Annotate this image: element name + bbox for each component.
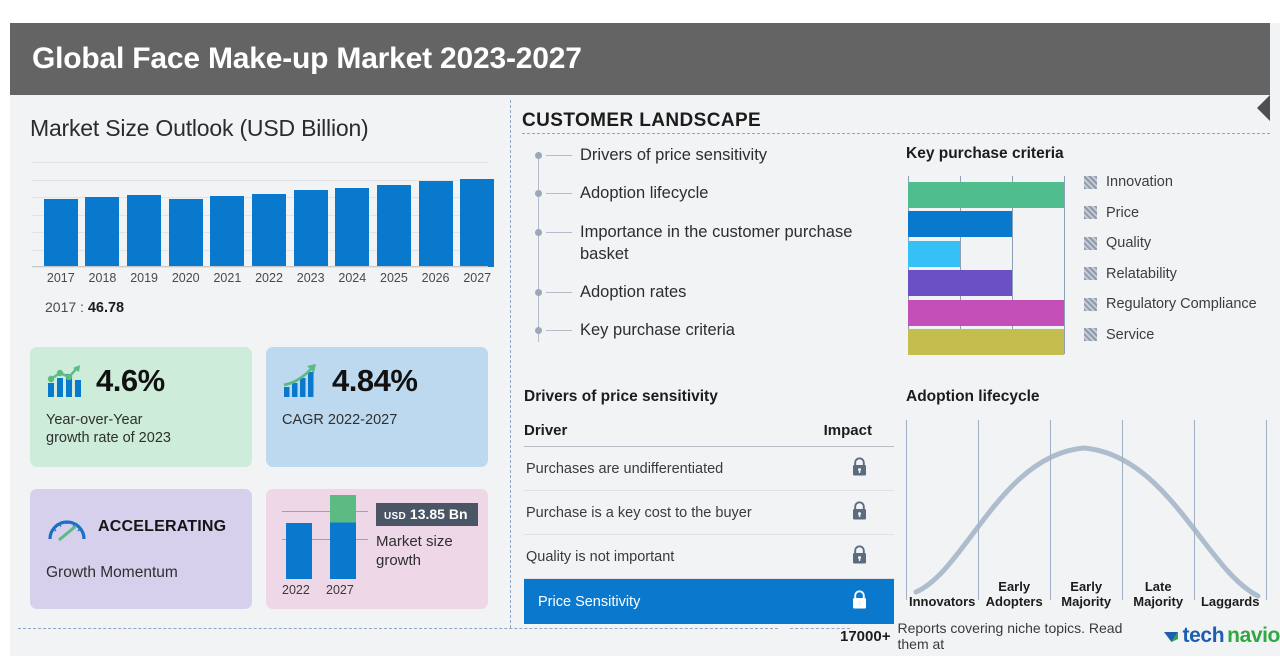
footer: 17000+ Reports covering niche topics. Re… <box>840 620 1280 652</box>
stat-card-momentum: ACCELERATING Growth Momentum <box>30 489 252 609</box>
hatched-square-icon <box>1084 267 1097 280</box>
impact-lock-cell[interactable] <box>824 491 894 535</box>
key-purchase-criteria-section: Key purchase criteria InnovationPriceQua… <box>906 145 1274 354</box>
market-growth-mini-chart: 2022 2027 <box>282 505 368 597</box>
customer-landscape-underline <box>522 133 1270 134</box>
chart-bars <box>40 162 498 267</box>
kpc-legend-label: Service <box>1106 327 1154 343</box>
bar-2018 <box>85 197 119 267</box>
impact-lock-cell[interactable] <box>824 535 894 579</box>
kpc-bar-regulatory-compliance <box>908 300 1064 326</box>
kpc-title: Key purchase criteria <box>906 145 1274 163</box>
lock-icon <box>851 501 868 520</box>
vertical-divider <box>510 100 511 628</box>
lock-icon <box>851 545 868 564</box>
bullet-dot-icon <box>535 152 542 159</box>
bar-2017 <box>44 199 78 267</box>
bar-2022 <box>252 194 286 267</box>
lock-icon <box>851 457 868 476</box>
alc-chart: InnovatorsEarly AdoptersEarly MajorityLa… <box>906 420 1268 610</box>
hatched-square-icon <box>1084 298 1097 311</box>
x-tick-2021: 2021 <box>207 271 249 285</box>
alc-tick-early-adopters: Early Adopters <box>978 580 1050 610</box>
column-driver: Driver <box>524 422 824 447</box>
stat-cards: 4.6% Year-over-Year growth rate of 2023 … <box>30 347 502 609</box>
table-row[interactable]: Purchases are undifferentiated <box>524 447 894 491</box>
alc-tick-laggards: Laggards <box>1194 595 1266 610</box>
bottom-margin <box>0 656 1280 670</box>
alc-tick-innovators: Innovators <box>906 595 978 610</box>
bar-column <box>165 162 207 267</box>
x-tick-2024: 2024 <box>331 271 373 285</box>
x-tick-2019: 2019 <box>123 271 165 285</box>
alc-title: Adoption lifecycle <box>906 388 1274 406</box>
landscape-item-label: Importance in the customer purchase bask… <box>580 221 898 266</box>
kpc-chart <box>906 176 1066 354</box>
adoption-lifecycle-section: Adoption lifecycle InnovatorsEarly Adopt… <box>906 388 1274 610</box>
alc-curve-icon <box>906 420 1268 602</box>
yoy-caption: Year-over-Year growth rate of 2023 <box>46 411 238 447</box>
alc-tick-late-majority: Late Majority <box>1122 580 1194 610</box>
stat-card-yoy: 4.6% Year-over-Year growth rate of 2023 <box>30 347 252 467</box>
x-tick-2023: 2023 <box>290 271 332 285</box>
kpc-legend-item: Innovation <box>1084 167 1257 198</box>
alc-gridline <box>1194 420 1195 600</box>
chart-x-tick-labels: 2017201820192020202120222023202420252026… <box>40 271 498 285</box>
bar-column <box>248 162 290 267</box>
market-size-panel: Market Size Outlook (USD Billion) 201720… <box>10 100 510 625</box>
bar-2027 <box>460 179 494 267</box>
x-tick-2020: 2020 <box>165 271 207 285</box>
gauge-icon <box>46 511 88 543</box>
alc-gridline <box>978 420 979 600</box>
kpc-legend-item: Relatability <box>1084 259 1257 290</box>
alc-tick-early-majority: Early Majority <box>1050 580 1122 610</box>
badge-unit: USD <box>384 511 406 522</box>
landscape-item-label: Adoption lifecycle <box>580 182 708 204</box>
x-tick-2022: 2022 <box>248 271 290 285</box>
yoy-value: 4.6% <box>96 363 165 399</box>
market-growth-badge: USD 13.85 Bn <box>376 503 478 526</box>
market-size-bar-chart <box>32 162 498 267</box>
kpc-legend-label: Relatability <box>1106 266 1177 282</box>
hatched-square-icon <box>1084 328 1097 341</box>
landscape-item-4[interactable]: Key purchase criteria <box>538 319 898 341</box>
corner-fold-shadow-icon <box>1244 95 1270 121</box>
top-margin <box>0 0 1280 23</box>
footer-divider <box>18 628 778 629</box>
kpc-legend-item: Regulatory Compliance <box>1084 289 1257 320</box>
chart-axis-line <box>32 266 488 267</box>
logo-text-navio: navio <box>1227 624 1280 648</box>
driver-name: Price Sensitivity <box>524 579 824 625</box>
bullet-connector-icon <box>546 193 572 194</box>
customer-landscape-title: CUSTOMER LANDSCAPE <box>522 110 761 132</box>
bullet-connector-icon <box>546 155 572 156</box>
bar-column <box>331 162 373 267</box>
mini-bar-2022 <box>286 523 312 579</box>
alc-gridline <box>1122 420 1123 600</box>
bar-chart-up-icon <box>46 363 86 399</box>
mini-label-2022: 2022 <box>282 583 310 597</box>
kpc-bar-price <box>908 211 1012 237</box>
table-row[interactable]: Price Sensitivity <box>524 579 894 625</box>
kpc-legend-item: Quality <box>1084 228 1257 259</box>
bar-2021 <box>210 196 244 267</box>
cagr-caption: CAGR 2022-2027 <box>282 411 474 429</box>
market-growth-caption: Market size growth <box>376 533 453 571</box>
kpc-legend-item: Service <box>1084 320 1257 351</box>
page-header: Global Face Make-up Market 2023-2027 <box>10 23 1270 95</box>
alc-gridline <box>1050 420 1051 600</box>
logo-text-tech: tech <box>1183 624 1225 648</box>
bullet-dot-icon <box>535 289 542 296</box>
landscape-item-label: Adoption rates <box>580 281 686 303</box>
impact-lock-cell[interactable] <box>824 447 894 491</box>
landscape-item-2[interactable]: Importance in the customer purchase bask… <box>538 221 898 266</box>
bar-column <box>40 162 82 267</box>
market-size-title: Market Size Outlook (USD Billion) <box>10 100 510 142</box>
technavio-mark-icon <box>1163 628 1180 645</box>
kpc-bar-innovation <box>908 182 1064 208</box>
landscape-item-label: Key purchase criteria <box>580 319 735 341</box>
bar-2025 <box>377 185 411 267</box>
alc-gridline <box>1266 420 1267 600</box>
chart-gridline <box>32 267 488 268</box>
impact-lock-cell[interactable] <box>824 579 894 625</box>
kpc-legend-label: Regulatory Compliance <box>1106 296 1257 312</box>
drivers-table-header-row: Driver Impact <box>524 422 894 447</box>
bar-column <box>123 162 165 267</box>
drivers-table-body: Purchases are undifferentiatedPurchase i… <box>524 447 894 625</box>
trend-up-icon <box>282 363 322 399</box>
kpc-bar-quality <box>908 241 960 267</box>
bullet-connector-icon <box>546 330 572 331</box>
alc-gridline <box>906 420 907 600</box>
drivers-table: Driver Impact Purchases are undifferenti… <box>524 422 894 624</box>
bullet-dot-icon <box>535 190 542 197</box>
footer-text: Reports covering niche topics. Read them… <box>897 620 1151 652</box>
cagr-value: 4.84% <box>332 363 417 399</box>
bar-2020 <box>169 199 203 267</box>
x-tick-2018: 2018 <box>82 271 124 285</box>
left-margin <box>0 0 10 670</box>
kpc-bar-relatability <box>908 270 1012 296</box>
x-tick-2025: 2025 <box>373 271 415 285</box>
bullet-connector-icon <box>546 232 572 233</box>
bar-2023 <box>294 190 328 267</box>
first-year-label: 2017 : <box>45 299 84 315</box>
hatched-square-icon <box>1084 206 1097 219</box>
kpc-legend-label: Price <box>1106 205 1139 221</box>
kpc-legend: InnovationPriceQualityRelatabilityRegula… <box>1084 167 1257 350</box>
mini-label-2027: 2027 <box>326 583 354 597</box>
kpc-legend-label: Quality <box>1106 235 1151 251</box>
bar-column <box>82 162 124 267</box>
driver-name: Purchase is a key cost to the buyer <box>524 491 824 535</box>
stat-card-cagr: 4.84% CAGR 2022-2027 <box>266 347 488 467</box>
bullet-dot-icon <box>535 327 542 334</box>
table-row[interactable]: Quality is not important <box>524 535 894 579</box>
drivers-section: Drivers of price sensitivity Driver Impa… <box>524 388 894 624</box>
kpc-gridline <box>1064 176 1065 354</box>
x-tick-2017: 2017 <box>40 271 82 285</box>
hatched-square-icon <box>1084 176 1097 189</box>
bar-column <box>415 162 457 267</box>
x-tick-2027: 2027 <box>456 271 498 285</box>
bar-2019 <box>127 195 161 267</box>
first-year-number: 46.78 <box>88 300 124 316</box>
x-tick-2026: 2026 <box>415 271 457 285</box>
bar-column <box>373 162 415 267</box>
landscape-item-0[interactable]: Drivers of price sensitivity <box>538 144 898 166</box>
lock-icon <box>851 590 868 609</box>
kpc-legend-item: Price <box>1084 198 1257 229</box>
first-year-value: 2017 : 46.78 <box>45 299 510 316</box>
landscape-item-label: Drivers of price sensitivity <box>580 144 767 166</box>
landscape-item-1[interactable]: Adoption lifecycle <box>538 182 898 204</box>
badge-value: 13.85 Bn <box>410 506 468 522</box>
bar-column <box>456 162 498 267</box>
table-row[interactable]: Purchase is a key cost to the buyer <box>524 491 894 535</box>
bullet-dot-icon <box>535 229 542 236</box>
driver-name: Quality is not important <box>524 535 824 579</box>
technavio-logo[interactable]: technavio <box>1163 624 1280 648</box>
momentum-value: ACCELERATING <box>98 518 226 536</box>
momentum-caption: Growth Momentum <box>46 563 238 582</box>
mini-bar-2027 <box>330 495 356 579</box>
kpc-legend-label: Innovation <box>1106 174 1173 190</box>
drivers-title: Drivers of price sensitivity <box>524 388 894 406</box>
kpc-bar-service <box>908 329 1064 355</box>
driver-name: Purchases are undifferentiated <box>524 447 824 491</box>
column-impact: Impact <box>824 422 894 447</box>
page-title: Global Face Make-up Market 2023-2027 <box>10 42 582 76</box>
footer-count: 17000+ <box>840 628 890 645</box>
bar-column <box>207 162 249 267</box>
landscape-item-3[interactable]: Adoption rates <box>538 281 898 303</box>
poster-root: Global Face Make-up Market 2023-2027 Mar… <box>0 0 1280 670</box>
bar-2024 <box>335 188 369 267</box>
bar-2026 <box>419 181 453 267</box>
customer-landscape-list: Drivers of price sensitivityAdoption lif… <box>538 144 898 358</box>
bar-column <box>290 162 332 267</box>
hatched-square-icon <box>1084 237 1097 250</box>
stat-card-market-growth: 2022 2027 USD 13.85 Bn Market size growt… <box>266 489 488 609</box>
bullet-connector-icon <box>546 292 572 293</box>
